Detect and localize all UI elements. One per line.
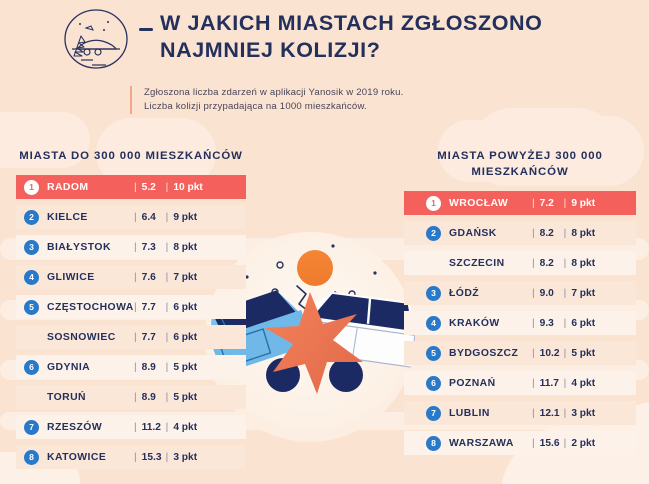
row-values: |11.2|4 pkt (134, 415, 197, 439)
points-value: 10 pkt (173, 182, 202, 193)
city-name: POZNAŃ (449, 378, 496, 389)
value-separator: | (166, 182, 169, 193)
collision-rate-value: 11.2 (142, 422, 166, 433)
row-values: |7.2|9 pkt (532, 191, 595, 215)
value-separator: | (134, 362, 137, 373)
value-separator: | (166, 212, 169, 223)
points-value: 9 pkt (571, 198, 595, 209)
value-separator: | (532, 378, 535, 389)
value-separator: | (564, 348, 567, 359)
city-name: GLIWICE (47, 272, 95, 283)
wheel (329, 358, 363, 392)
footer: yanosik .pl oponeo (0, 450, 649, 484)
rank-badge (24, 390, 39, 405)
value-separator: | (532, 408, 535, 419)
table-row: 1RADOM|5.2|10 pkt (16, 175, 246, 199)
value-separator: | (166, 332, 169, 343)
row-values: |8.2|8 pkt (532, 251, 595, 275)
rank-badge: 2 (24, 210, 39, 225)
city-name: SZCZECIN (449, 258, 505, 269)
table-row: 4KRAKÓW|9.3|6 pkt (404, 311, 636, 335)
collision-rate-value: 7.7 (142, 302, 166, 313)
subtitle: Zgłoszona liczba zdarzeń w aplikacji Yan… (130, 86, 470, 114)
value-separator: | (134, 422, 137, 433)
city-name: GDAŃSK (449, 228, 497, 239)
rank-badge (24, 330, 39, 345)
value-separator: | (564, 228, 567, 239)
table-row: 3ŁÓDŹ|9.0|7 pkt (404, 281, 636, 305)
value-separator: | (166, 242, 169, 253)
city-name: WROCŁAW (449, 198, 508, 209)
collision-rate-value: 12.1 (540, 408, 564, 419)
row-values: |9.0|7 pkt (532, 281, 595, 305)
value-separator: | (134, 212, 137, 223)
city-name: WARSZAWA (449, 438, 514, 449)
value-separator: | (166, 392, 169, 403)
rank-badge: 4 (24, 270, 39, 285)
value-separator: | (532, 438, 535, 449)
value-separator: | (532, 198, 535, 209)
row-values: |7.3|8 pkt (134, 235, 197, 259)
points-value: 6 pkt (173, 332, 197, 343)
city-name: BYDGOSZCZ (449, 348, 518, 359)
city-name: SOSNOWIEC (47, 332, 116, 343)
column-cities-above-300k: MIASTA POWYŻEJ 300 000 MIESZKAŃCÓW 1WROC… (404, 148, 636, 461)
row-values: |8.2|8 pkt (532, 221, 595, 245)
column-cities-up-to-300k: MIASTA DO 300 000 MIESZKAŃCÓW 1RADOM|5.2… (16, 148, 246, 475)
city-name: CZĘSTOCHOWA (47, 302, 134, 313)
table-row: 3BIAŁYSTOK|7.3|8 pkt (16, 235, 246, 259)
city-name: KRAKÓW (449, 318, 500, 329)
row-values: |5.2|10 pkt (134, 175, 203, 199)
table-row: 6POZNAŃ|11.7|4 pkt (404, 371, 636, 395)
city-name: BIAŁYSTOK (47, 242, 111, 253)
collision-rate-value: 9.0 (540, 288, 564, 299)
rank-badge: 7 (24, 420, 39, 435)
row-values: |8.9|5 pkt (134, 385, 197, 409)
collision-rate-value: 8.9 (142, 362, 166, 373)
points-value: 6 pkt (173, 302, 197, 313)
city-name: TORUŃ (47, 392, 86, 403)
rank-badge: 6 (24, 360, 39, 375)
value-separator: | (134, 182, 137, 193)
value-separator: | (134, 332, 137, 343)
collision-rate-value: 9.3 (540, 318, 564, 329)
value-separator: | (166, 272, 169, 283)
rank-badge: 1 (24, 180, 39, 195)
row-values: |7.7|6 pkt (134, 325, 197, 349)
points-value: 6 pkt (571, 318, 595, 329)
rank-badge: 5 (426, 346, 441, 361)
header: W JAKICH MIASTACH ZGŁOSZONO NAJMNIEJ KOL… (0, 0, 649, 78)
value-separator: | (532, 318, 535, 329)
column-header-right: MIASTA POWYŻEJ 300 000 MIESZKAŃCÓW (404, 148, 636, 180)
collision-rate-value: 15.6 (540, 438, 564, 449)
value-separator: | (134, 302, 137, 313)
points-value: 5 pkt (173, 362, 197, 373)
row-values: |7.7|6 pkt (134, 295, 197, 319)
infographic-page: W JAKICH MIASTACH ZGŁOSZONO NAJMNIEJ KOL… (0, 0, 649, 484)
city-name: GDYNIA (47, 362, 90, 373)
points-value: 8 pkt (173, 242, 197, 253)
rank-badge: 4 (426, 316, 441, 331)
points-value: 2 pkt (571, 438, 595, 449)
table-row: 5BYDGOSZCZ|10.2|5 pkt (404, 341, 636, 365)
ranking-list-left: 1RADOM|5.2|10 pkt2KIELCE|6.4|9 pkt3BIAŁY… (16, 175, 246, 469)
rank-badge: 6 (426, 376, 441, 391)
collision-rate-value: 5.2 (142, 182, 166, 193)
table-row: 4GLIWICE|7.6|7 pkt (16, 265, 246, 289)
points-value: 4 pkt (173, 422, 197, 433)
points-value: 4 pkt (571, 378, 595, 389)
row-values: |12.1|3 pkt (532, 401, 595, 425)
subtitle-line-2: Liczba kolizji przypadająca na 1000 mies… (144, 100, 470, 114)
rank-badge: 3 (426, 286, 441, 301)
rank-badge: 3 (24, 240, 39, 255)
row-values: |7.6|7 pkt (134, 265, 197, 289)
table-row: 1WROCŁAW|7.2|9 pkt (404, 191, 636, 215)
subtitle-line-1: Zgłoszona liczba zdarzeń w aplikacji Yan… (144, 86, 470, 100)
rank-badge: 1 (426, 196, 441, 211)
value-separator: | (564, 288, 567, 299)
points-value: 9 pkt (173, 212, 197, 223)
points-value: 7 pkt (571, 288, 595, 299)
value-separator: | (564, 438, 567, 449)
rank-badge: 7 (426, 406, 441, 421)
collision-rate-value: 11.7 (540, 378, 564, 389)
table-row: SZCZECIN|8.2|8 pkt (404, 251, 636, 275)
value-separator: | (166, 302, 169, 313)
city-name: LUBLIN (449, 408, 490, 419)
collision-rate-value: 6.4 (142, 212, 166, 223)
points-value: 3 pkt (571, 408, 595, 419)
row-values: |9.3|6 pkt (532, 311, 595, 335)
points-value: 8 pkt (571, 228, 595, 239)
row-values: |6.4|9 pkt (134, 205, 197, 229)
rank-badge: 8 (426, 436, 441, 451)
value-separator: | (532, 228, 535, 239)
value-separator: | (532, 258, 535, 269)
value-separator: | (564, 198, 567, 209)
rank-badge: 2 (426, 226, 441, 241)
points-value: 7 pkt (173, 272, 197, 283)
column-header-left: MIASTA DO 300 000 MIESZKAŃCÓW (16, 148, 246, 164)
value-separator: | (134, 392, 137, 403)
title-dash (139, 28, 153, 31)
collision-rate-value: 10.2 (540, 348, 564, 359)
table-row: 7LUBLIN|12.1|3 pkt (404, 401, 636, 425)
value-separator: | (532, 288, 535, 299)
collision-rate-value: 7.3 (142, 242, 166, 253)
table-row: 7RZESZÓW|11.2|4 pkt (16, 415, 246, 439)
row-values: |10.2|5 pkt (532, 341, 595, 365)
rank-badge (426, 256, 441, 271)
orange-circle-icon (297, 250, 333, 286)
table-row: 6GDYNIA|8.9|5 pkt (16, 355, 246, 379)
collision-rate-value: 7.2 (540, 198, 564, 209)
city-name: RZESZÓW (47, 422, 102, 433)
collision-rate-value: 7.7 (142, 332, 166, 343)
value-separator: | (134, 242, 137, 253)
value-separator: | (564, 318, 567, 329)
city-name: RADOM (47, 182, 89, 193)
city-name: ŁÓDŹ (449, 288, 479, 299)
collision-rate-value: 8.2 (540, 258, 564, 269)
value-separator: | (564, 408, 567, 419)
table-row: 2KIELCE|6.4|9 pkt (16, 205, 246, 229)
ranking-list-right: 1WROCŁAW|7.2|9 pkt2GDAŃSK|8.2|8 pktSZCZE… (404, 191, 636, 455)
row-values: |8.9|5 pkt (134, 355, 197, 379)
collision-rate-value: 8.9 (142, 392, 166, 403)
points-value: 5 pkt (173, 392, 197, 403)
value-separator: | (166, 422, 169, 433)
row-values: |11.7|4 pkt (532, 371, 595, 395)
points-value: 5 pkt (571, 348, 595, 359)
table-row: 2GDAŃSK|8.2|8 pkt (404, 221, 636, 245)
table-row: SOSNOWIEC|7.7|6 pkt (16, 325, 246, 349)
collision-rate-value: 7.6 (142, 272, 166, 283)
value-separator: | (134, 272, 137, 283)
value-separator: | (564, 258, 567, 269)
points-value: 8 pkt (571, 258, 595, 269)
value-separator: | (532, 348, 535, 359)
value-separator: | (564, 378, 567, 389)
table-row: 5CZĘSTOCHOWA|7.7|6 pkt (16, 295, 246, 319)
car-collision-circle-icon (62, 8, 130, 70)
value-separator: | (166, 362, 169, 373)
collision-rate-value: 8.2 (540, 228, 564, 239)
table-row: TORUŃ|8.9|5 pkt (16, 385, 246, 409)
city-name: KIELCE (47, 212, 88, 223)
rank-badge: 5 (24, 300, 39, 315)
page-title: W JAKICH MIASTACH ZGŁOSZONO NAJMNIEJ KOL… (160, 10, 590, 64)
